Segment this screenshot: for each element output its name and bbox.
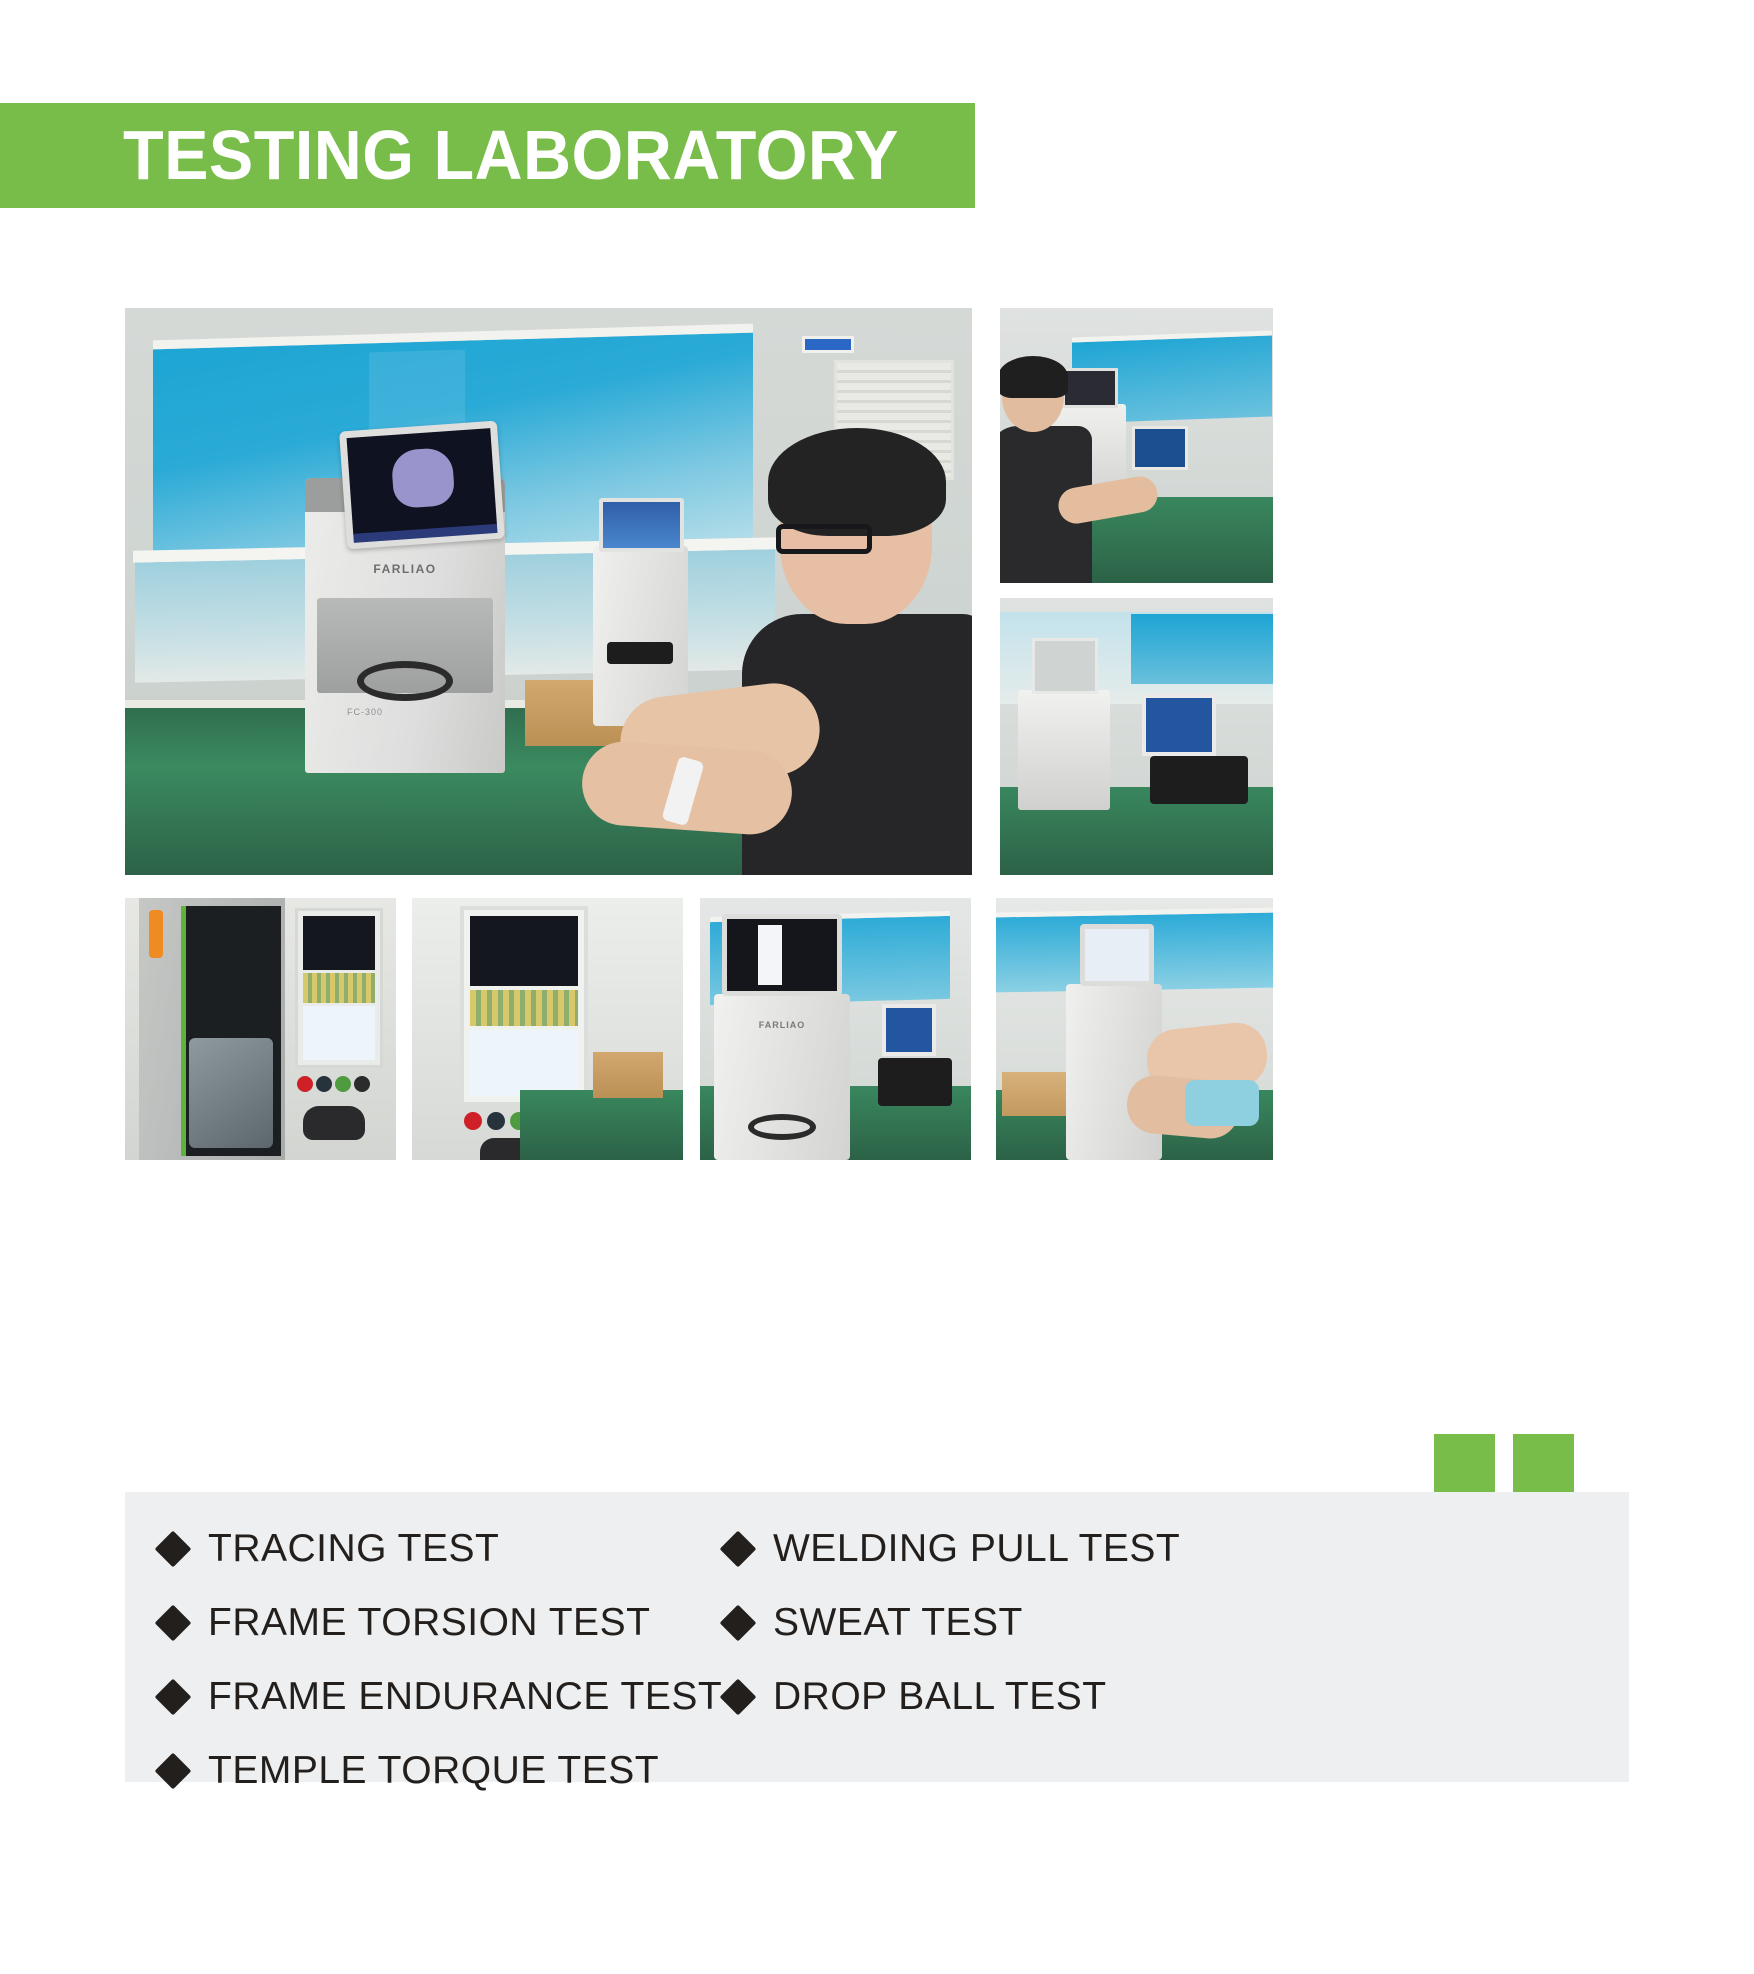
diamond-bullet-icon [720,1605,757,1642]
list-item: TRACING TEST [160,1512,722,1586]
blue-window-film [1131,614,1273,684]
test-label: WELDING PULL TEST [773,1527,1180,1571]
poster-page: TESTING LABORATORY FARLIAO FC-300 [0,0,1754,1974]
test-list-right-column: WELDING PULL TEST SWEAT TEST DROP BALL T… [725,1512,1180,1734]
photo-bottom-2 [412,898,683,1160]
air-gun-tool [149,910,163,958]
green-workbench [520,1090,683,1160]
test-machine [1066,984,1162,1160]
list-item: SWEAT TEST [725,1586,1180,1660]
photo-bottom-3: FARLIAO [700,898,971,1160]
list-item: FRAME ENDURANCE TEST [160,1660,722,1734]
panel-data-grid [303,973,375,1003]
machine-screen [1080,924,1154,986]
secondary-screen [599,498,684,552]
wall-label-tag [802,336,854,353]
test-label: FRAME ENDURANCE TEST [208,1675,722,1719]
cnc-control-panel [460,906,588,1106]
technician-figure [1000,362,1086,583]
list-item: WELDING PULL TEST [725,1512,1180,1586]
cardboard-box [593,1052,663,1098]
machine-screen [1032,638,1098,694]
machine-brand-label: FARLIAO [759,1020,806,1030]
panel-graph-area [470,916,578,986]
list-item: DROP BALL TEST [725,1660,1180,1734]
diamond-bullet-icon [155,1531,192,1568]
tablet-display [1132,426,1188,470]
photo-right-bottom [1000,598,1273,875]
technician-hair [768,428,946,536]
screen-inner [347,428,497,535]
diamond-bullet-icon [720,1679,757,1716]
machine-touchscreen [722,914,842,996]
photo-bottom-1 [125,898,396,1160]
panel-form-area [470,1030,578,1096]
screen-glare [758,925,782,985]
test-label: TEMPLE TORQUE TEST [208,1749,659,1793]
test-label: TRACING TEST [208,1527,499,1571]
diamond-bullet-icon [155,1605,192,1642]
panel-buttons [297,1076,383,1096]
tablet-display [1142,694,1216,756]
test-label: SWEAT TEST [773,1601,1023,1645]
microscope-head [1150,756,1248,804]
diamond-bullet-icon [155,1753,192,1790]
eyeglasses [776,524,872,554]
test-label: DROP BALL TEST [773,1675,1107,1719]
lens-tracer-machine: FARLIAO [714,994,850,1160]
mouse [303,1106,365,1140]
microscope-arm [607,642,673,664]
machine-model-label: FC-300 [347,707,383,717]
machine-touchscreen [339,421,505,550]
page-title: TESTING LABORATORY [123,105,899,205]
machine-handwheel [357,661,453,701]
test-list-left-column: TRACING TEST FRAME TORSION TEST FRAME EN… [160,1512,722,1808]
lens-shape-graphic [391,446,455,508]
tablet-display [882,1004,936,1056]
technician-figure [732,428,972,875]
test-list-panel: TRACING TEST FRAME TORSION TEST FRAME EN… [125,1492,1629,1782]
machine-handwheel [748,1114,816,1140]
list-item: TEMPLE TORQUE TEST [160,1734,722,1808]
photo-main-lab: FARLIAO FC-300 [125,308,972,875]
blue-cloth [1185,1080,1259,1126]
list-item: FRAME TORSION TEST [160,1586,722,1660]
machining-view [189,1038,273,1148]
cardboard-box [1002,1072,1068,1116]
test-label: FRAME TORSION TEST [208,1601,650,1645]
diamond-bullet-icon [155,1679,192,1716]
microscope-head [878,1058,952,1106]
technician-hair [1000,356,1068,398]
panel-data-grid [470,990,578,1026]
cnc-control-panel [295,908,383,1068]
diamond-bullet-icon [720,1531,757,1568]
photo-bottom-4 [996,898,1273,1160]
photo-right-top [1000,308,1273,583]
panel-form-area [303,1006,375,1060]
machine-brand-label: FARLIAO [373,562,436,576]
test-machine [1018,690,1110,810]
panel-graph-area [303,916,375,970]
